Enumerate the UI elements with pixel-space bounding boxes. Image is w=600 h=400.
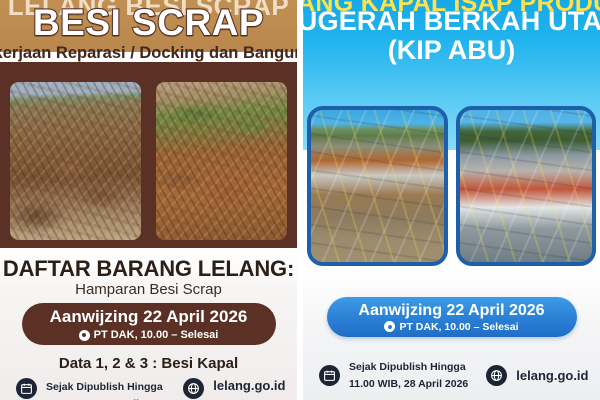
photo-1-texture	[10, 82, 141, 240]
right-publish-text: Sejak Dipublish Hingga 11.00 WIB, 28 Apr…	[349, 358, 468, 392]
location-pin-icon	[79, 330, 90, 341]
left-poster-photo-row	[0, 72, 297, 250]
left-publish-text: Sejak Dipublish Hingga 11.00 WIB, 28 Apr…	[46, 378, 165, 400]
photo-2-texture	[156, 82, 287, 240]
right-poster-footer: Sejak Dipublish Hingga 11.00 WIB, 28 Apr…	[319, 361, 586, 389]
right-aanwijzing-date: Aanwijzing 22 April 2026	[358, 302, 544, 320]
left-aanwijzing-date: Aanwijzing 22 April 2026	[50, 307, 248, 327]
right-poster-header-line2: (KIP ABU)	[388, 37, 516, 64]
left-poster-footer: Sejak Dipublish Hingga 11.00 WIB, 28 Apr…	[16, 378, 285, 400]
left-poster-data-line: Data 1, 2 & 3 : Besi Kapal	[59, 355, 238, 372]
calendar-icon	[319, 365, 340, 386]
poster-pair-canvas: LELANG BESI SCRAP BESI SCRAP Pekerjaan R…	[0, 0, 600, 400]
left-aanwijzing-venue: PT DAK, 10.00 – Selesai	[94, 329, 219, 341]
globe-icon	[486, 365, 507, 386]
left-poster-besi-scrap[interactable]: LELANG BESI SCRAP BESI SCRAP Pekerjaan R…	[0, 0, 297, 400]
scrap-metal-pile-photo-2	[152, 78, 291, 244]
right-site-url[interactable]: lelang.go.id	[516, 368, 588, 383]
left-aanwijzing-venue-row: PT DAK, 10.00 – Selesai	[79, 329, 219, 341]
right-poster-header-line1: ANUGERAH BERKAH UTAMA	[303, 8, 600, 35]
left-site-url[interactable]: lelang.go.id	[213, 378, 285, 393]
right-publish-label: Sejak Dipublish Hingga	[349, 361, 466, 373]
right-poster-kip-abu[interactable]: LELANG KAPAL ISAP PRODUKSI ANUGERAH BERK…	[303, 0, 600, 400]
dock-vessel-photo-2	[456, 106, 597, 266]
left-poster-subtitle: Pekerjaan Reparasi / Docking dan Banguna…	[0, 44, 297, 63]
right-photo-1-texture	[311, 110, 444, 262]
location-pin-icon	[384, 321, 395, 332]
left-poster-body-subheading: Hamparan Besi Scrap	[75, 281, 222, 298]
scrap-metal-pile-photo-1	[6, 78, 145, 244]
left-poster-body-heading: DAFTAR BARANG LELANG:	[3, 256, 294, 282]
right-aanwijzing-venue: PT DAK, 10.00 – Selesai	[399, 321, 518, 333]
left-poster-title: BESI SCRAP	[33, 4, 264, 41]
calendar-icon	[16, 378, 37, 399]
right-photo-2-texture	[460, 110, 593, 262]
left-poster-aanwijzing-pill[interactable]: Aanwijzing 22 April 2026 PT DAK, 10.00 –…	[22, 303, 276, 345]
right-poster-aanwijzing-pill[interactable]: Aanwijzing 22 April 2026 PT DAK, 10.00 –…	[327, 297, 577, 337]
left-publish-label: Sejak Dipublish Hingga	[46, 381, 163, 393]
right-poster-photo-row	[303, 106, 600, 266]
right-publish-value: 11.00 WIB, 28 April 2026	[349, 378, 468, 390]
right-aanwijzing-venue-row: PT DAK, 10.00 – Selesai	[384, 321, 518, 333]
dock-vessel-photo-1	[307, 106, 448, 266]
globe-icon	[183, 378, 204, 399]
